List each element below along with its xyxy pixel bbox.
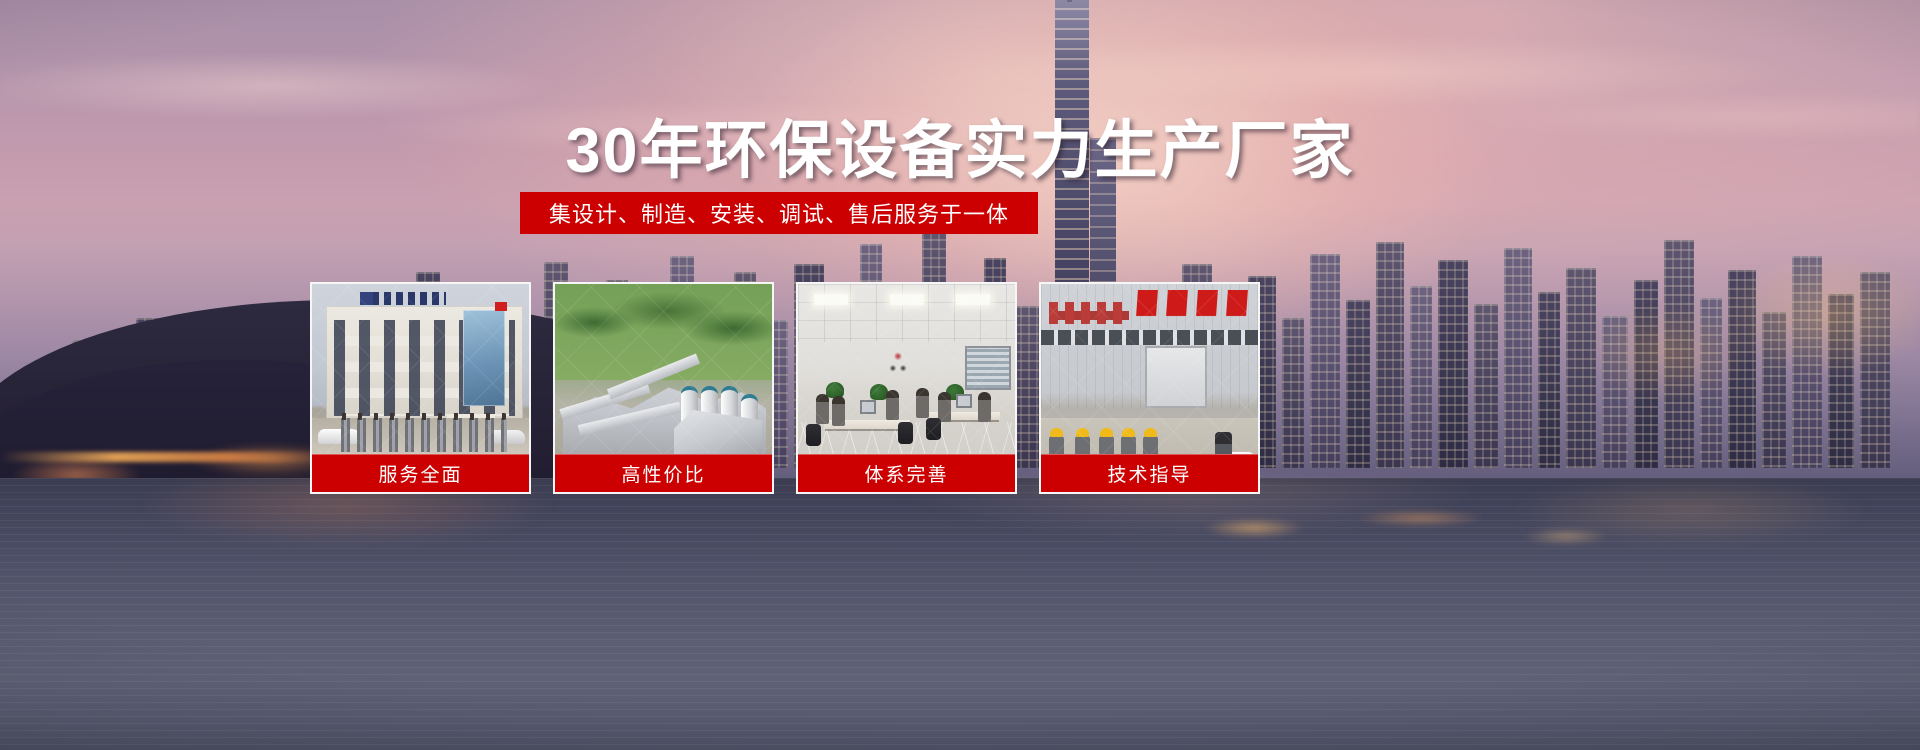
feature-card-4-label: 技术指导	[1041, 454, 1258, 492]
feature-card-2[interactable]: 高性价比	[553, 282, 774, 494]
flag-icon	[495, 302, 507, 311]
banner-subtitle-bar: 集设计、制造、安装、调试、售后服务于一体	[520, 192, 1038, 234]
feature-card-3[interactable]: 体系完善	[796, 282, 1017, 494]
feature-card-1[interactable]: 服务全面	[310, 282, 531, 494]
feature-card-2-label: 高性价比	[555, 454, 772, 492]
feature-card-1-label: 服务全面	[312, 454, 529, 492]
company-sign-icon	[360, 292, 446, 305]
factory-banner-icon	[1136, 290, 1256, 316]
hero-banner: 30年环保设备实力生产厂家 集设计、制造、安装、调试、售后服务于一体 服务全面	[0, 0, 1920, 750]
banner-subtitle-text: 集设计、制造、安装、调试、售后服务于一体	[549, 197, 1009, 229]
wall-decal-icon	[882, 350, 914, 376]
lit-buildings-glow	[1500, 215, 1920, 465]
factory-slogan-icon	[1049, 302, 1129, 324]
feature-card-3-label: 体系完善	[798, 454, 1015, 492]
feature-card-row: 服务全面 高性价比	[310, 282, 1560, 494]
feature-card-4[interactable]: 技术指导	[1039, 282, 1260, 494]
shoreline-lights	[1150, 500, 1670, 570]
banner-headline: 30年环保设备实力生产厂家	[0, 100, 1920, 191]
